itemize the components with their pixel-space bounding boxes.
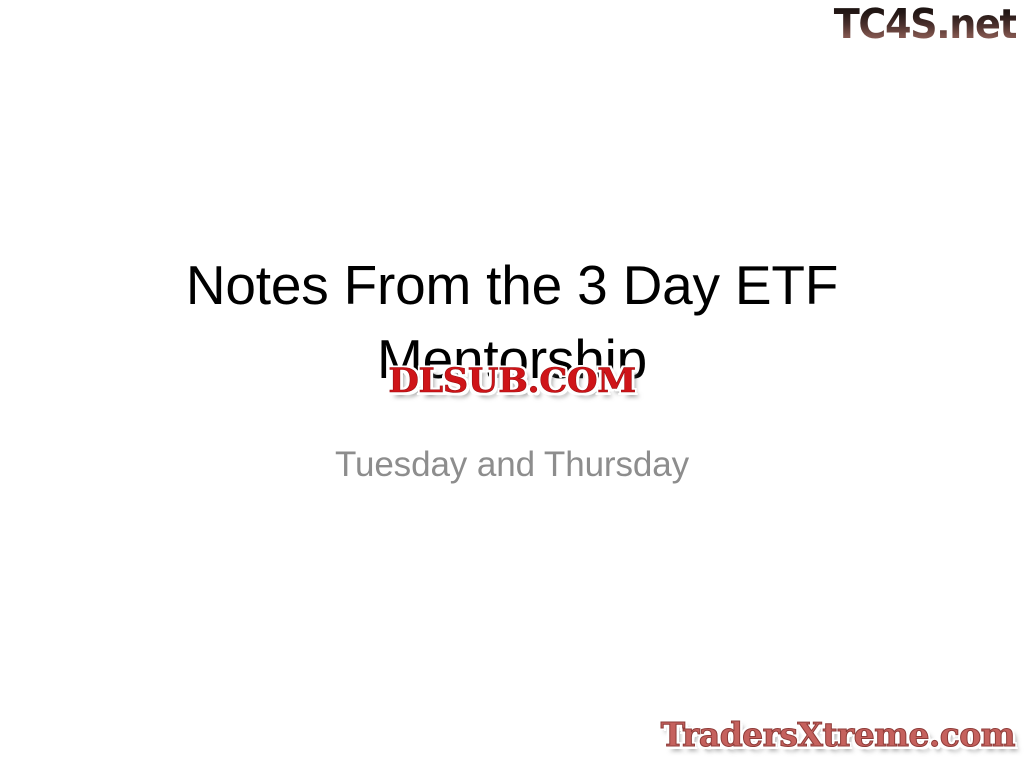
slide-subtitle: Tuesday and Thursday <box>128 443 896 487</box>
dlsub-watermark: DLSUB.COM <box>388 361 636 401</box>
subtitle-placeholder: Tuesday and Thursday <box>128 443 896 487</box>
tc4s-watermark: TC4S.net <box>833 2 1016 46</box>
tradersxtreme-watermark: TradersXtreme.com <box>661 716 1015 754</box>
slide-canvas: Notes From the 3 Day ETF Mentorship Tues… <box>0 0 1024 768</box>
